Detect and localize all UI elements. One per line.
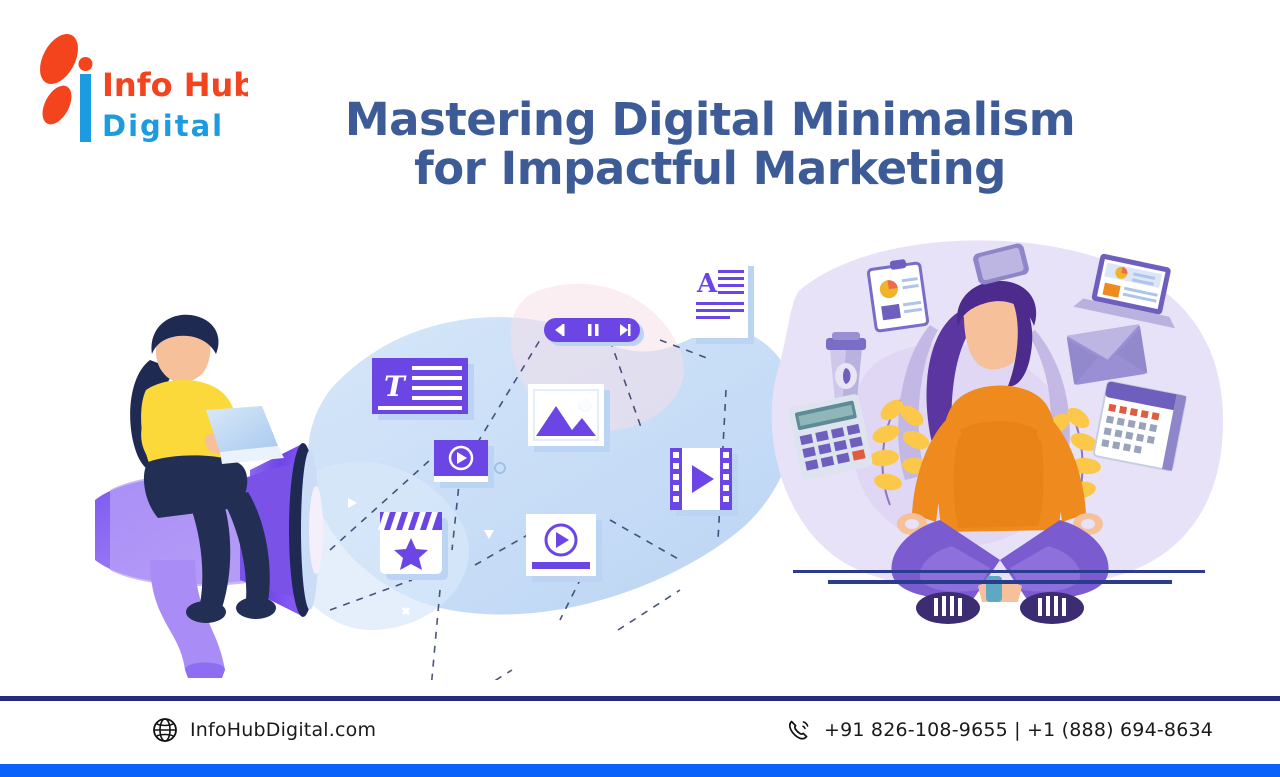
media-controls-bar[interactable] (544, 318, 644, 346)
footer-phone[interactable]: +91 826-108-9655 | +1 (888) 694-8634 (786, 717, 1213, 743)
svg-text:T: T (384, 370, 407, 403)
calendar-icon (1093, 381, 1186, 471)
image-card[interactable] (528, 384, 610, 452)
illustration-area: T (0, 230, 1280, 680)
bottom-accent-bar (0, 764, 1280, 777)
page-title: Mastering Digital Minimalism for Impactf… (300, 96, 1120, 193)
article-document-card[interactable]: A (690, 260, 754, 344)
right-illustration (772, 240, 1223, 624)
ground-line-top (793, 570, 1205, 573)
logo-text-top: Info Hub (102, 66, 248, 104)
page-title-line-1: Mastering Digital Minimalism (345, 93, 1075, 146)
page-title-line-2: for Impactful Marketing (300, 145, 1120, 194)
film-strip-card[interactable] (670, 448, 738, 516)
logo-text-bottom: Digital (102, 109, 224, 143)
ground-line-bottom (828, 580, 1172, 584)
phone-call-icon (786, 717, 812, 743)
svg-text:A: A (696, 269, 718, 299)
clipboard-icon (868, 259, 928, 331)
video-player-card[interactable] (526, 514, 602, 582)
footer-website[interactable]: InfoHubDigital.com (152, 717, 376, 743)
footer: InfoHubDigital.com +91 826-108-9655 | +1… (0, 701, 1280, 764)
left-illustration: T (95, 260, 796, 680)
calculator-icon (788, 393, 874, 480)
logo[interactable]: Info Hub Digital (18, 26, 248, 148)
globe-icon (152, 717, 178, 743)
marketing-banner: Info Hub Digital Mastering Digital Minim… (0, 0, 1280, 777)
logo-butterfly-icon (32, 28, 86, 130)
footer-website-label: InfoHubDigital.com (190, 719, 376, 741)
video-thumb-card[interactable] (434, 440, 494, 488)
logo-i-stem-icon (79, 57, 93, 142)
text-document-card[interactable]: T (372, 358, 474, 420)
footer-phone-label: +91 826-108-9655 | +1 (888) 694-8634 (824, 719, 1213, 741)
clapperboard-card[interactable] (378, 512, 448, 580)
